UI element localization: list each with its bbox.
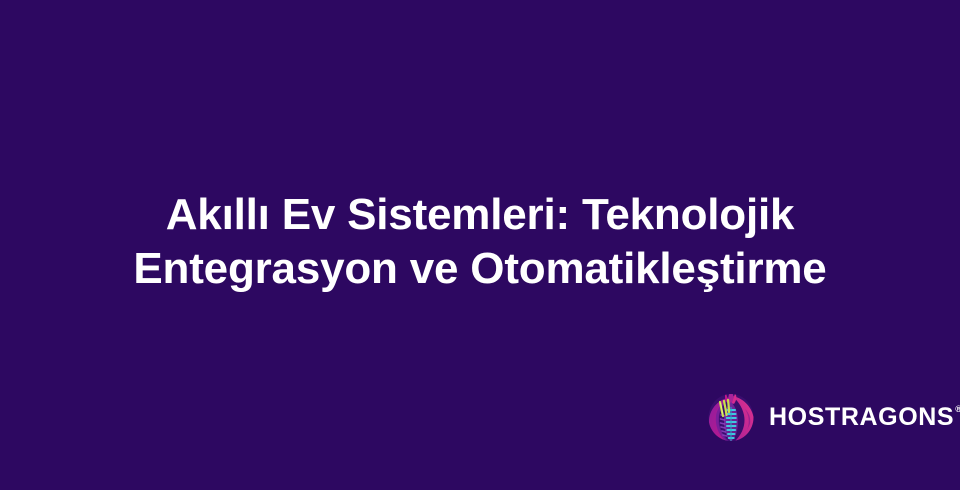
registered-trademark-icon: ® — [955, 404, 960, 414]
brand-wordmark: HOSTRAGONS® — [769, 405, 960, 430]
page-title-container: Akıllı Ev Sistemleri: Teknolojik Entegra… — [50, 188, 910, 296]
banner: Akıllı Ev Sistemleri: Teknolojik Entegra… — [0, 0, 960, 490]
brand-logo: HOSTRAGONS® — [704, 389, 960, 443]
hostragons-dragon-logo-icon — [704, 389, 758, 443]
page-title: Akıllı Ev Sistemleri: Teknolojik Entegra… — [50, 188, 910, 296]
brand-name: HOSTRAGONS — [769, 403, 954, 431]
